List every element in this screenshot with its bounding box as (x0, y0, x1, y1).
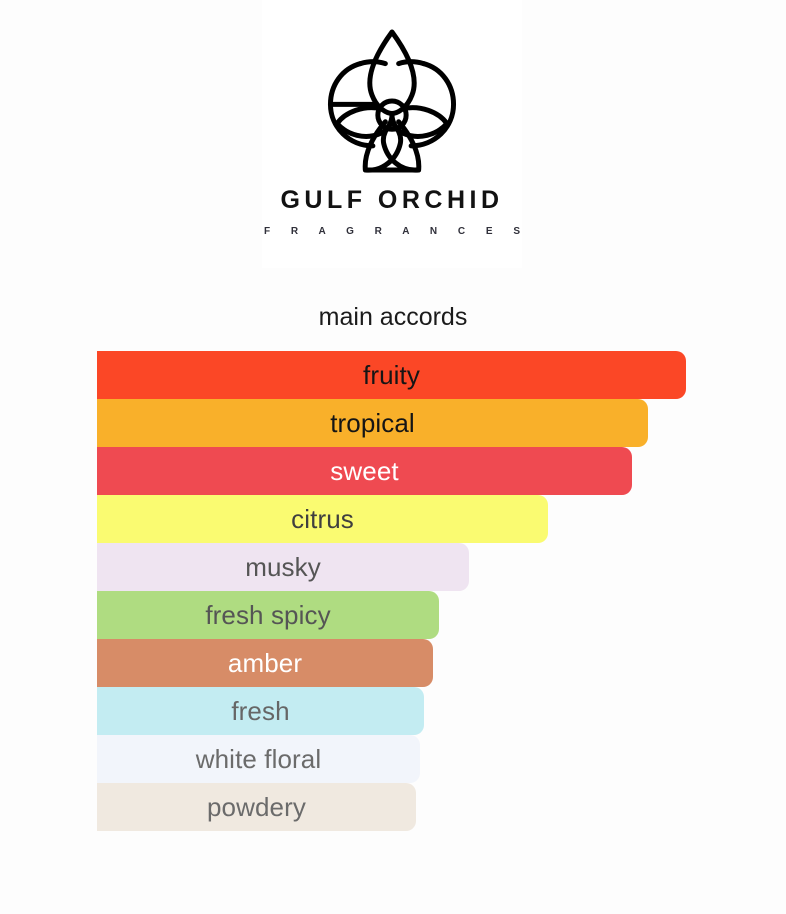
accord-bar-label: citrus (291, 506, 354, 532)
brand-tagline: F R A G R A N C E S (255, 227, 529, 237)
accord-bar-label: white floral (196, 746, 321, 772)
accord-bar-label: amber (228, 650, 302, 676)
accord-bar: musky (97, 543, 469, 591)
orchid-flower-logo-icon (307, 22, 477, 180)
accord-bar-label: fresh (231, 698, 289, 724)
accord-bar-label: musky (245, 554, 321, 580)
brand-logo-panel: GULF ORCHID F R A G R A N C E S (262, 0, 522, 268)
main-accords-bar-chart: fruitytropicalsweetcitrusmuskyfresh spic… (0, 351, 786, 831)
accord-bar: white floral (97, 735, 420, 783)
accord-bar: fresh (97, 687, 424, 735)
accord-bar: fruity (97, 351, 686, 399)
accord-bar-label: fruity (363, 362, 420, 388)
accord-bar: amber (97, 639, 433, 687)
brand-wordmark: GULF ORCHID (280, 188, 503, 213)
accord-bar: tropical (97, 399, 648, 447)
main-accords-title: main accords (0, 296, 786, 338)
accord-bar: sweet (97, 447, 632, 495)
accord-bar-label: fresh spicy (205, 602, 330, 628)
accord-bar: fresh spicy (97, 591, 439, 639)
accord-bar-label: powdery (207, 794, 306, 820)
main-accords-section: main accords fruitytropicalsweetcitrusmu… (0, 296, 786, 831)
accord-bar: citrus (97, 495, 548, 543)
accord-bar: powdery (97, 783, 416, 831)
accord-bar-label: sweet (330, 458, 398, 484)
accord-bar-label: tropical (330, 410, 415, 436)
